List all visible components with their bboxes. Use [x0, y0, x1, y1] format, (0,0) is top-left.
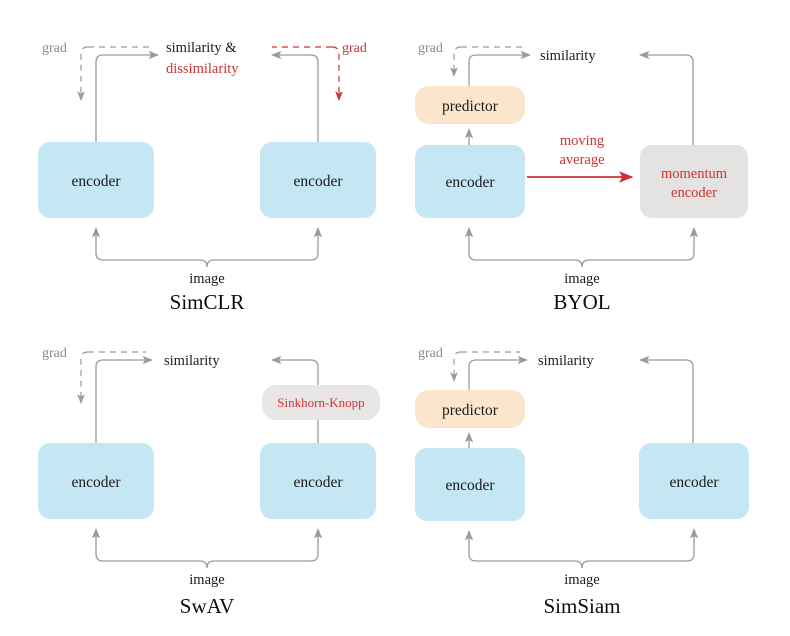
- panel-byol: grad similarity predictor encoder moment…: [415, 41, 748, 314]
- simclr-objective-line2: dissimilarity: [166, 61, 239, 77]
- simsiam-grad-arrow: [454, 352, 461, 381]
- byol-moving-average-line2: average: [559, 152, 604, 168]
- simclr-left-grad-label: grad: [42, 41, 67, 56]
- simsiam-left-encoder-label: encoder: [445, 477, 495, 494]
- simclr-right-grad-arrow: [332, 47, 339, 100]
- panel-simsiam: grad similarity predictor encoder encode…: [415, 346, 749, 618]
- swav-objective-label: similarity: [164, 353, 220, 369]
- simclr-image-label: image: [189, 271, 224, 287]
- simsiam-right-encoder-label: encoder: [669, 474, 719, 491]
- byol-objective-label: similarity: [540, 48, 596, 64]
- simsiam-grad-label: grad: [418, 346, 443, 361]
- simsiam-predictor-label: predictor: [442, 402, 499, 419]
- simclr-image-fork-right: [207, 228, 318, 267]
- simclr-left-encoder-label: encoder: [71, 173, 121, 190]
- swav-image-label: image: [189, 572, 224, 588]
- byol-right-forward-arrow: [640, 55, 693, 145]
- swav-image-fork-left: [96, 529, 207, 568]
- byol-title: BYOL: [553, 290, 610, 314]
- swav-sinkhorn-knopp-label: Sinkhorn-Knopp: [277, 395, 364, 410]
- byol-momentum-encoder-line2: encoder: [671, 185, 717, 201]
- simclr-left-forward-arrow: [96, 55, 158, 142]
- simclr-right-encoder-label: encoder: [293, 173, 343, 190]
- simclr-right-grad-label: grad: [342, 41, 367, 56]
- swav-left-encoder-label: encoder: [71, 474, 121, 491]
- byol-grad-label: grad: [418, 41, 443, 56]
- panel-simclr: grad similarity & dissimilarity grad enc…: [38, 40, 376, 314]
- simclr-right-forward-arrow: [272, 55, 318, 142]
- swav-right-encoder-label: encoder: [293, 474, 343, 491]
- simsiam-image-fork-left: [469, 531, 582, 568]
- byol-grad-arrow: [454, 47, 461, 76]
- byol-momentum-encoder-line1: momentum: [661, 166, 728, 182]
- byol-predictor-label: predictor: [442, 98, 499, 115]
- simsiam-objective-label: similarity: [538, 353, 594, 369]
- simsiam-right-forward-arrow: [640, 360, 693, 443]
- simsiam-image-label: image: [564, 572, 599, 588]
- simclr-objective-line1: similarity &: [166, 40, 237, 56]
- byol-encoder-label: encoder: [445, 174, 495, 191]
- swav-title: SwAV: [180, 594, 234, 618]
- panel-swav: grad similarity Sinkhorn-Knopp encoder e…: [38, 346, 380, 618]
- simclr-title: SimCLR: [170, 290, 245, 314]
- byol-image-fork-right: [582, 228, 694, 267]
- byol-image-fork-left: [469, 228, 582, 267]
- swav-grad-arrow: [81, 352, 88, 403]
- byol-moving-average-line1: moving: [560, 133, 604, 149]
- swav-grad-label: grad: [42, 346, 67, 361]
- simsiam-left-forward-arrow: [469, 360, 527, 390]
- swav-image-fork-right: [207, 529, 318, 568]
- simclr-image-fork-left: [96, 228, 207, 267]
- swav-left-forward-arrow: [96, 360, 152, 443]
- byol-left-forward-arrow: [469, 55, 530, 86]
- simclr-left-grad-arrow: [81, 47, 88, 100]
- simsiam-image-fork-right: [582, 529, 694, 568]
- figure-canvas: grad similarity & dissimilarity grad enc…: [0, 0, 790, 636]
- byol-image-label: image: [564, 271, 599, 287]
- simsiam-title: SimSiam: [543, 594, 620, 618]
